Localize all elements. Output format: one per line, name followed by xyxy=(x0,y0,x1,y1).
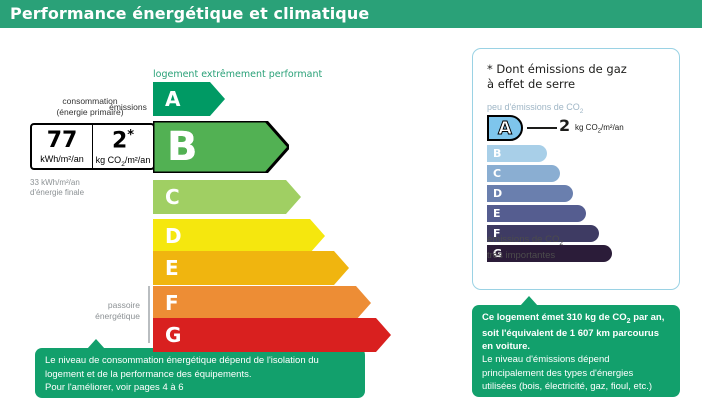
co2-value: 2 xyxy=(559,116,570,135)
value-box: 77 kWh/m²/an 2* kg CO2/m²/an xyxy=(30,123,155,170)
co2-title-line2: à effet de serre xyxy=(487,77,575,91)
page-title: Performance énergétique et climatique xyxy=(10,4,369,23)
co2-class-bar-b: B xyxy=(487,145,547,162)
energy-class-bar-e: E xyxy=(153,251,349,285)
callout-right-bold3: en voiture. xyxy=(482,341,670,354)
energy-class-letter: G xyxy=(153,323,181,347)
co2-title-asterisk: * xyxy=(487,62,493,76)
co2-class-bar-a-current: A xyxy=(487,115,523,141)
co2-value-unit: kg CO2/m²/an xyxy=(575,123,624,135)
co2-class-letter: E xyxy=(493,207,501,220)
co2-scale-bottom-label: émissions de CO2 très importantes xyxy=(487,234,563,262)
energy-class-bar-d: D xyxy=(153,219,325,253)
co2-class-bar-d: D xyxy=(487,185,573,202)
energy-class-letter: E xyxy=(153,256,179,280)
co2-panel: * Dont émissions de gaz à effet de serre… xyxy=(472,48,680,290)
callout-pointer xyxy=(520,296,538,306)
final-energy-line1: 33 kWh/m²/an xyxy=(30,178,84,188)
co2-class-letter: C xyxy=(493,167,501,180)
emissions-header: émissions xyxy=(98,102,158,112)
energy-performance-panel: logement extrêmement performant logement… xyxy=(0,28,470,403)
callout-energy-advice: Le niveau de consommation énergétique dé… xyxy=(35,348,365,398)
final-energy-line2: d'énergie finale xyxy=(30,188,84,198)
callout-right-bold2: soit l'équivalent de 1 607 km parcourus xyxy=(482,328,670,341)
callout-left-line3: Pour l'améliorer, voir pages 4 à 6 xyxy=(45,381,355,395)
emissions-unit: kg CO2/m²/an xyxy=(96,155,151,168)
energy-class-bar-c: C xyxy=(153,180,301,214)
consumption-value: 77 xyxy=(47,130,78,152)
consumption-unit: kWh/m²/an xyxy=(40,154,84,164)
co2-title-line1: Dont émissions de gaz xyxy=(496,62,626,76)
emissions-asterisk: * xyxy=(127,128,134,143)
consumption-value-cell: 77 kWh/m²/an xyxy=(32,125,93,168)
callout-left-line2: logement et de la performance des équipe… xyxy=(45,368,355,382)
passoire-label: passoire énergétique xyxy=(78,300,140,322)
callout-right-norm3: utilisées (bois, électricité, gaz, fioul… xyxy=(482,381,670,394)
energy-class-bar-g: G xyxy=(153,318,391,352)
passoire-bracket xyxy=(148,286,150,343)
co2-class-letter: B xyxy=(493,147,501,160)
emissions-number: 2 xyxy=(112,129,127,154)
bar-shape xyxy=(153,286,371,320)
bar-shape xyxy=(153,318,391,352)
energy-class-bar-f: F xyxy=(153,286,371,320)
final-energy-note: 33 kWh/m²/an d'énergie finale xyxy=(30,178,84,198)
co2-panel-title: * Dont émissions de gaz à effet de serre xyxy=(487,62,667,92)
callout-right-norm2: principalement des types d'énergies xyxy=(482,368,670,381)
energy-class-bar-b: B xyxy=(153,121,289,173)
energy-class-letter: A xyxy=(153,87,180,111)
co2-class-letter: D xyxy=(493,187,502,200)
bar-shape xyxy=(153,251,349,285)
scale-top-caption: logement extrêmement performant xyxy=(153,69,322,80)
co2-class-letter: A xyxy=(498,118,512,139)
callout-right-norm1: Le niveau d'émissions dépend xyxy=(482,354,670,367)
callout-co2-info: Ce logement émet 310 kg de CO2 par an, s… xyxy=(472,305,680,397)
dpe-diagram: Performance énergétique et climatique lo… xyxy=(0,0,702,403)
co2-leader-line xyxy=(527,127,557,129)
emissions-value: 2* xyxy=(112,125,134,152)
energy-class-letter: C xyxy=(153,185,180,209)
passoire-line2: énergétique xyxy=(78,311,140,322)
energy-class-bar-a: A xyxy=(153,82,225,116)
co2-scale-top-label: peu d'émissions de CO2 xyxy=(487,102,583,115)
callout-right-bold1: Ce logement émet 310 kg de CO2 par an, xyxy=(482,312,670,328)
page-header: Performance énergétique et climatique xyxy=(0,0,702,28)
co2-class-bar-e: E xyxy=(487,205,586,222)
emissions-value-cell: 2* kg CO2/m²/an xyxy=(93,125,153,168)
co2-class-bar-c: C xyxy=(487,165,560,182)
energy-class-letter: B xyxy=(153,124,198,170)
energy-class-letter: D xyxy=(153,224,182,248)
callout-left-line1: Le niveau de consommation énergétique dé… xyxy=(45,354,355,368)
energy-class-letter: F xyxy=(153,291,179,315)
co2-bottom-line2: très importantes xyxy=(487,250,563,262)
co2-bottom-line1: émissions de CO2 xyxy=(487,234,563,250)
callout-pointer xyxy=(87,339,105,349)
passoire-line1: passoire xyxy=(78,300,140,311)
